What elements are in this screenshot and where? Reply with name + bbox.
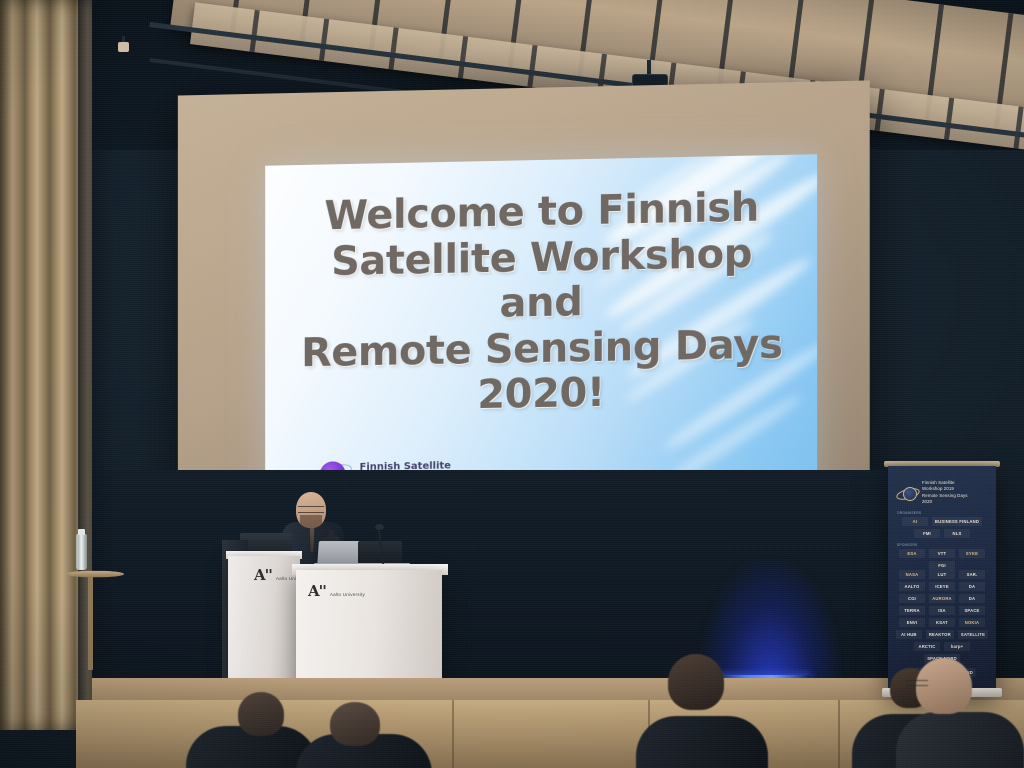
banner-logo: BUSINESS FINLAND <box>932 517 982 526</box>
banner-title: Finnish Satellite Workshop 2019 Remote S… <box>922 480 968 506</box>
banner-logo: ARCTIC <box>914 642 940 651</box>
slide-title: Welcome to Finnish Satellite Workshop an… <box>291 185 793 422</box>
stage-seam <box>452 700 454 768</box>
spotlight-icon <box>118 36 129 52</box>
banner-section-sponsors: SPONSORS <box>888 538 996 549</box>
banner-logo: NOKIA <box>959 618 985 627</box>
banner-logo: KSAT <box>929 618 955 627</box>
ceiling-rib <box>944 98 954 140</box>
banner-sponsor-logos: NASALUTSAR.AALTOICEYEDACGIAURORADATERRAI… <box>888 570 996 663</box>
banner-partner-logos: ESAVTTSYKEFGI <box>888 549 996 570</box>
bottle-cap <box>78 529 85 535</box>
banner-logo: ESA <box>899 549 925 558</box>
banner-logo: LUT <box>929 570 955 579</box>
banner-organiser-logos: AIBUSINESS FINLANDFMINLS <box>888 517 996 538</box>
glasses-icon <box>298 506 324 513</box>
stage-seam <box>838 700 840 768</box>
ceiling-rib <box>388 27 398 69</box>
banner-logo: DA <box>959 594 985 603</box>
banner-logo: AI HUB <box>896 630 922 639</box>
banner-logo: SYKE <box>959 549 985 558</box>
projected-slide: Welcome to Finnish Satellite Workshop an… <box>265 154 817 504</box>
speaker-beard <box>300 515 322 528</box>
banner-logo: DA <box>959 582 985 591</box>
attendee-body <box>636 716 768 768</box>
banner-logo: SATELLITE <box>958 630 988 639</box>
banner-logo: VTT <box>929 549 955 558</box>
banner-logo: NLS <box>944 529 970 538</box>
banner-logo: harp+ <box>944 642 970 651</box>
microphone-head-icon <box>375 524 384 530</box>
attendee-head <box>916 658 972 714</box>
ceiling-rib <box>875 89 885 131</box>
banner-logo: ICEYE <box>929 582 955 591</box>
ceiling-rib <box>319 19 329 61</box>
banner-logo: FGI <box>929 561 955 570</box>
ceiling-rib <box>527 45 537 87</box>
banner-section-organisers: ORGANISERS <box>888 506 996 517</box>
ceiling-rib <box>250 10 260 52</box>
banner-logo: AI <box>902 517 928 526</box>
side-table <box>65 571 124 577</box>
ceiling-rib <box>458 36 468 78</box>
aalto-mark: A'' <box>308 582 326 600</box>
banner-logo: SAR. <box>959 570 985 579</box>
banner-logo: REAKTOR <box>926 630 954 639</box>
banner-header: Finnish Satellite Workshop 2019 Remote S… <box>888 466 996 506</box>
banner-logo: CGI <box>899 594 925 603</box>
banner-logo: AALTO <box>899 582 925 591</box>
banner-logo: NASA <box>899 570 925 579</box>
water-bottle <box>76 534 87 570</box>
conference-photo-scene: Welcome to Finnish Satellite Workshop an… <box>0 0 1024 768</box>
ceiling-rib <box>1013 106 1023 148</box>
banner-logo: ENVI <box>899 618 925 627</box>
banner-logo: ISA <box>929 606 955 615</box>
side-table-leg <box>88 574 93 670</box>
banner-logo: AURORA <box>929 594 955 603</box>
attendee-head <box>330 702 380 746</box>
aalto-mark: A'' <box>254 566 272 584</box>
aalto-wordmark: Aalto University <box>330 592 365 597</box>
attendee-head <box>238 692 284 736</box>
attendee-head <box>668 654 724 710</box>
attendee-body <box>896 712 1024 768</box>
banner-logo: TERRA <box>899 606 925 615</box>
banner-logo: FMI <box>914 529 940 538</box>
banner-logo: SPACE <box>959 606 985 615</box>
aalto-logo: A'' Aalto University <box>308 582 365 600</box>
attendee-glasses-icon <box>906 680 928 686</box>
banner-planet-icon <box>896 485 918 501</box>
curtain-shadow <box>78 0 114 730</box>
